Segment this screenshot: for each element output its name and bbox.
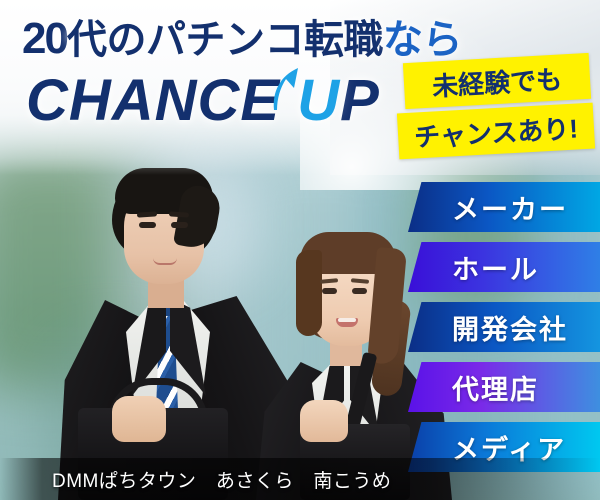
female-teeth <box>338 318 356 322</box>
male-eye-left <box>139 222 156 228</box>
headline-number: 20 <box>22 14 67 63</box>
brand-logo: CHANCE UP <box>26 72 380 130</box>
badge-line-1: 未経験でも <box>403 53 591 109</box>
category-item-agency[interactable]: 代理店 <box>408 362 600 412</box>
category-item-hall[interactable]: ホール <box>408 242 600 292</box>
page-title: 20代のパチンコ転職なら <box>22 17 462 61</box>
headline-main: 代のパチンコ転職 <box>67 18 383 62</box>
female-hair-side-left <box>296 250 322 336</box>
female-hand <box>300 400 348 442</box>
category-label: 代理店 <box>452 368 539 407</box>
caption-text: DMMぱちタウン あさくら 南こうめ <box>52 466 391 493</box>
category-label: メーカー <box>452 188 568 227</box>
badge-line-2: チャンスあり! <box>397 103 595 160</box>
female-eye-left <box>322 288 337 294</box>
category-label: ホール <box>452 248 539 287</box>
male-mouth <box>153 258 177 265</box>
status-badge: 未経験でも チャンスあり! <box>398 54 594 160</box>
male-eye-right <box>171 222 188 228</box>
logo-text-chance: CHANCE <box>26 68 297 133</box>
category-item-maker[interactable]: メーカー <box>408 182 600 232</box>
category-list: メーカー ホール 開発会社 代理店 メディア <box>408 178 600 482</box>
male-hand <box>112 396 166 442</box>
logo-text-u: U <box>297 68 340 133</box>
badge-line-2-text: チャンスあり! <box>413 108 579 154</box>
female-eye-right <box>352 288 367 294</box>
pachinko-job-ad-banner: 20代のパチンコ転職なら CHANCE UP 未経験でも チャンスあり! メーカ… <box>0 0 600 500</box>
badge-line-1-text: 未経験でも <box>431 59 563 103</box>
category-item-developer[interactable]: 開発会社 <box>408 302 600 352</box>
caption-bar: DMMぱちタウン あさくら 南こうめ <box>0 458 600 500</box>
category-label: 開発会社 <box>452 308 568 347</box>
logo-text-p: P <box>340 68 380 133</box>
